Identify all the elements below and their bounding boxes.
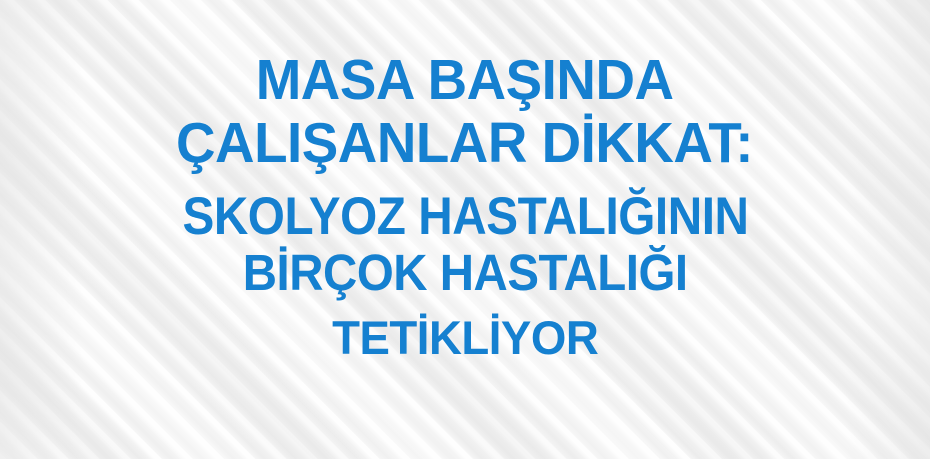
headline-line-5: TETİKLİYOR <box>332 314 598 361</box>
headline-line-2: ÇALIŞANLAR DİKKAT: <box>176 115 753 172</box>
headline-line-4: BİRÇOK HASTALIĞI <box>243 247 688 298</box>
headline-line-1: MASA BAŞINDA <box>256 52 674 109</box>
headline-poster: MASA BAŞINDA ÇALIŞANLAR DİKKAT: SKOLYOZ … <box>0 0 930 459</box>
headline-text-block: MASA BAŞINDA ÇALIŞANLAR DİKKAT: SKOLYOZ … <box>0 0 930 459</box>
headline-line-3: SKOLYOZ HASTALIĞININ <box>182 190 748 243</box>
